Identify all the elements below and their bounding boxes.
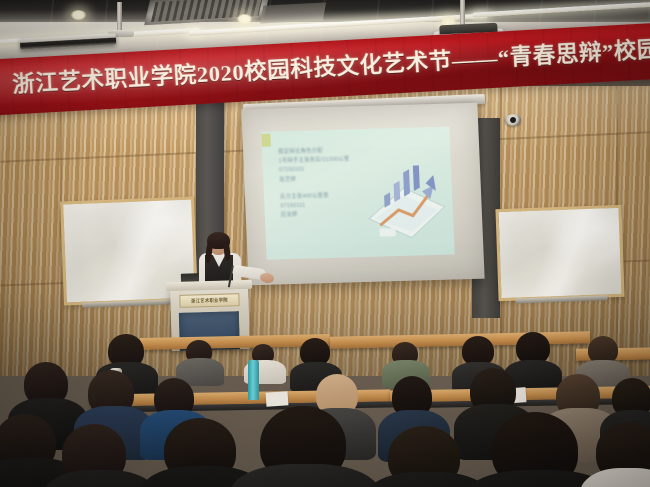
downlight [70, 10, 87, 21]
presentation-slide: 假定辩论角色分配 1号辩手主张务实/11200公里 07150101 张芝婷 反… [261, 127, 454, 260]
audience-shoulders [230, 464, 380, 487]
lectern-plaque-text: 浙江艺术职业学院 [191, 297, 228, 304]
water-bottle [248, 360, 259, 400]
slide-accent-tab [261, 134, 271, 147]
whiteboard-right [495, 205, 624, 301]
lecture-hall-photo: 浙江艺术职业学院2020校园科技文化艺术节——“青春思辩”校园辩论赛复赛 假定辩… [0, 0, 650, 487]
bar-chart-growth-arrow-icon [363, 165, 450, 245]
audience-shoulders [580, 468, 650, 487]
lectern-top [166, 280, 252, 291]
ceiling-hanger-rod [117, 2, 122, 32]
air-conditioning-vent-secondary [260, 2, 326, 23]
desk-row [330, 331, 590, 348]
notebook-paper [266, 391, 289, 407]
lectern-plaque: 浙江艺术职业学院 [179, 293, 239, 308]
whiteboard-glare [499, 208, 622, 298]
downlight [236, 14, 253, 25]
audience-seating [0, 330, 650, 487]
wall-camera-icon [505, 114, 521, 126]
projection-screen: 假定辩论角色分配 1号辩手主张务实/11200公里 07150101 张芝婷 反… [241, 103, 484, 285]
